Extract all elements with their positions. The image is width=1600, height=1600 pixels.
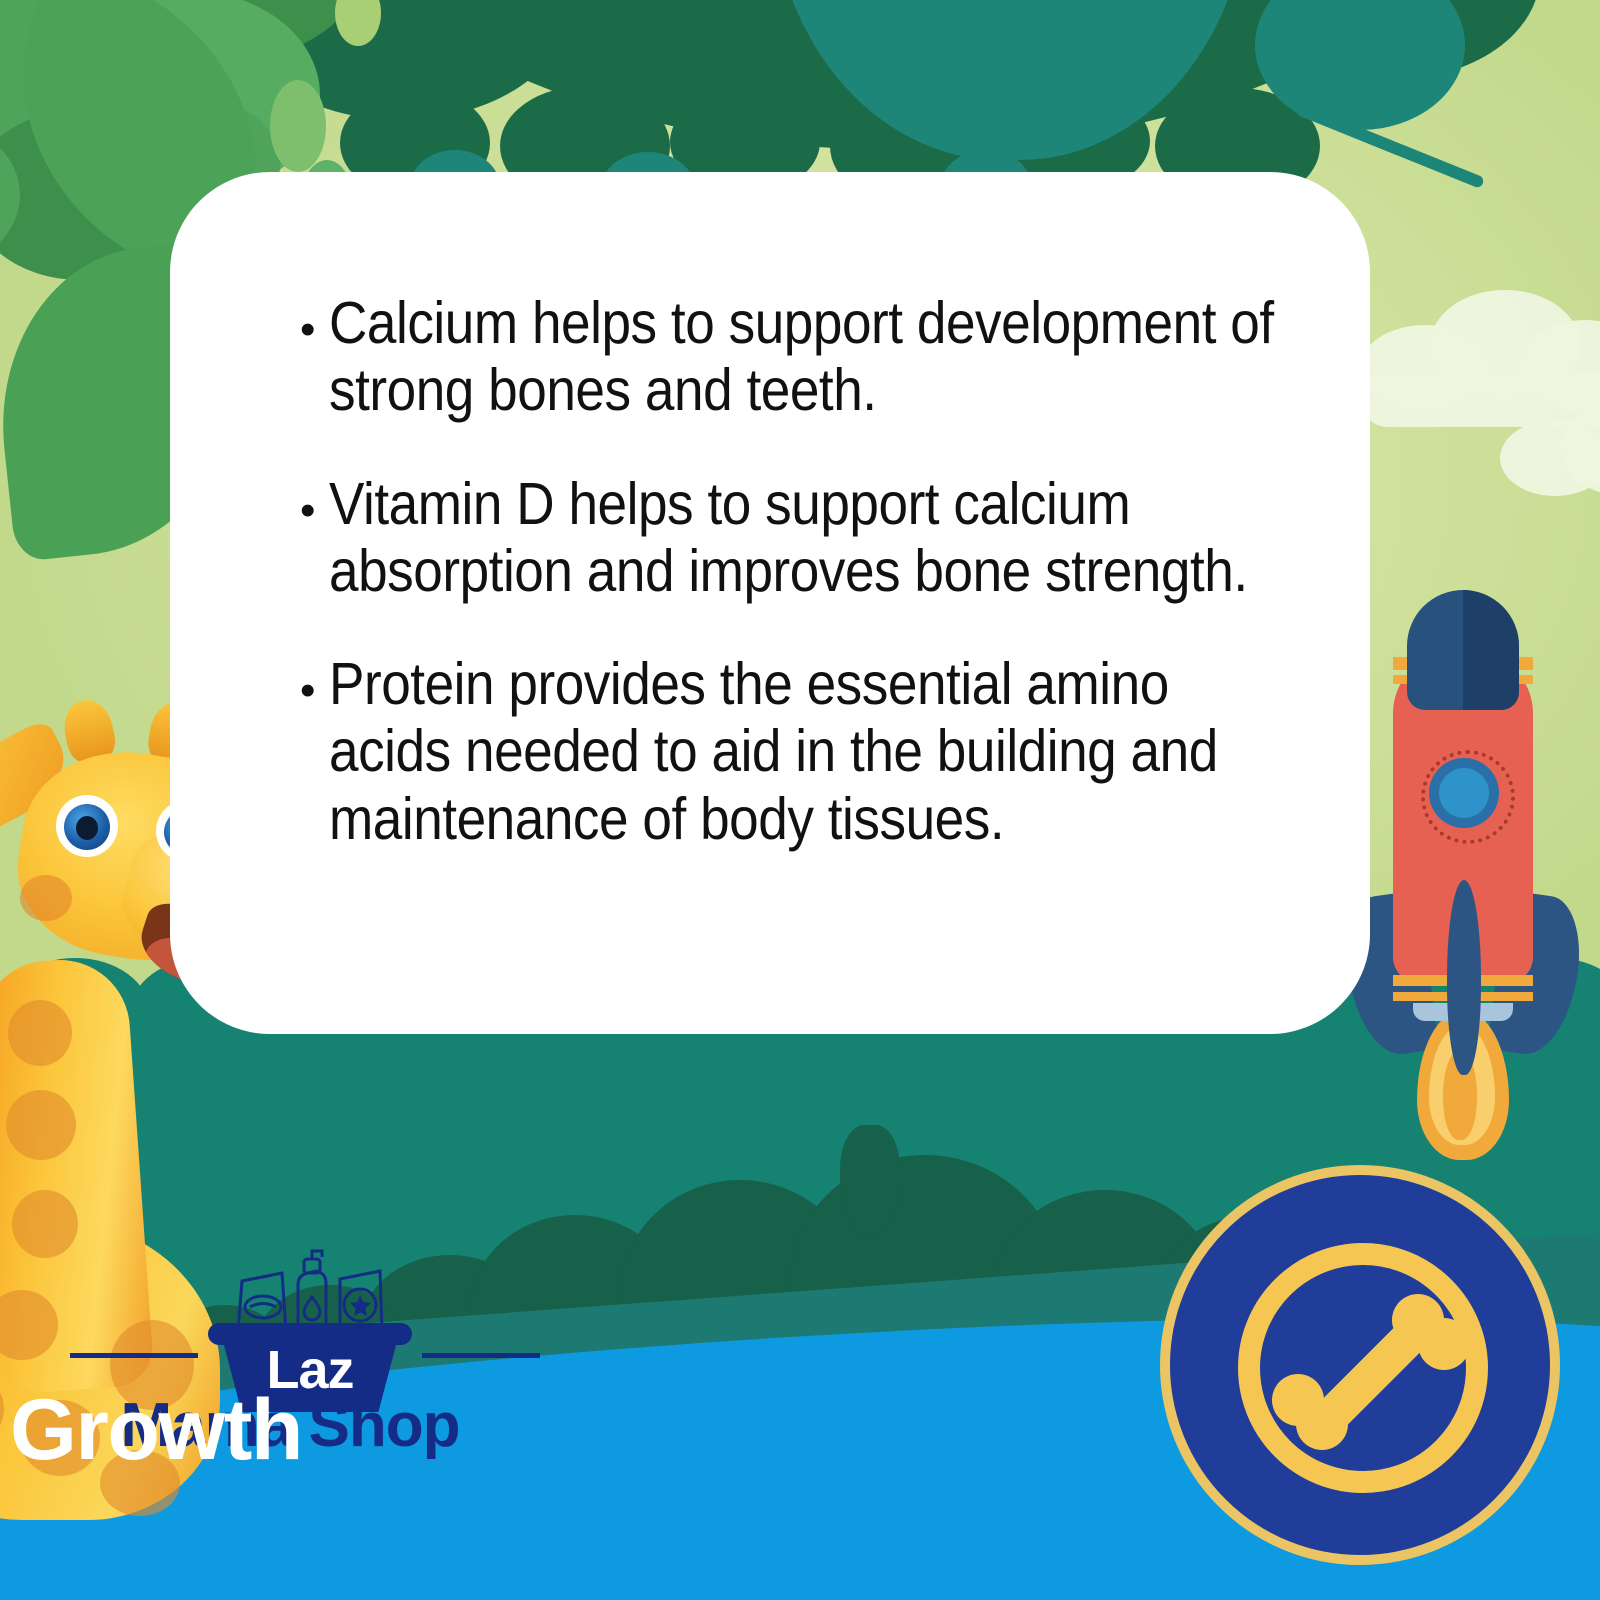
bone-icon bbox=[1266, 1270, 1476, 1480]
list-item-text: Protein provides the essential amino aci… bbox=[329, 651, 1284, 853]
list-item-text: Calcium helps to support development of … bbox=[329, 290, 1284, 425]
growth-watermark: Growth bbox=[10, 1380, 430, 1480]
list-item: • Calcium helps to support development o… bbox=[300, 290, 1390, 425]
bullet-marker: • bbox=[300, 669, 315, 713]
list-item: • Vitamin D helps to support calcium abs… bbox=[300, 471, 1390, 606]
bullet-marker: • bbox=[300, 489, 315, 533]
giraffe-eye-left bbox=[56, 795, 118, 857]
promo-image: • Calcium helps to support development o… bbox=[0, 0, 1600, 1600]
benefits-list: • Calcium helps to support development o… bbox=[300, 290, 1390, 899]
list-item-text: Vitamin D helps to support calcium absor… bbox=[329, 471, 1284, 606]
status-badge bbox=[1160, 1165, 1560, 1565]
list-item: • Protein provides the essential amino a… bbox=[300, 651, 1390, 853]
logo-rule-left bbox=[70, 1353, 198, 1358]
bullet-marker: • bbox=[300, 308, 315, 352]
shopping-basket-icon bbox=[230, 1245, 390, 1335]
logo-rule-right bbox=[422, 1353, 540, 1358]
